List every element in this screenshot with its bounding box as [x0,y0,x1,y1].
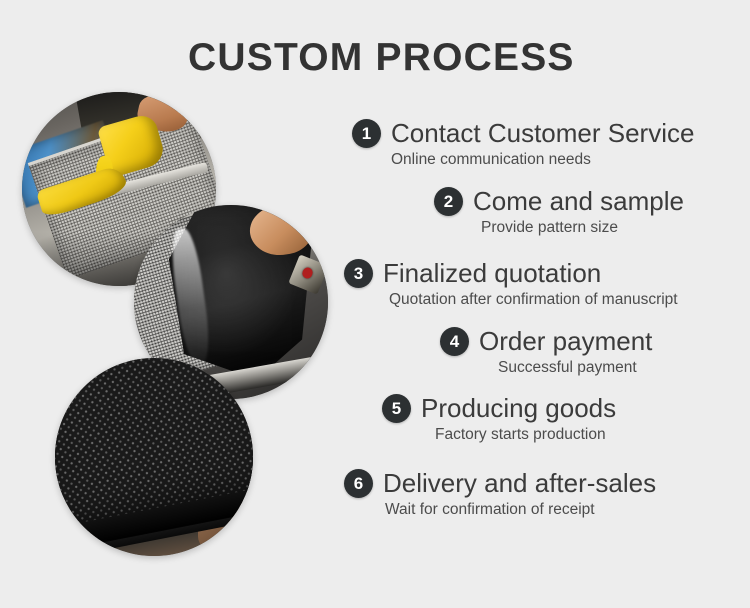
step-6-subtitle: Wait for confirmation of receipt [385,501,656,519]
step-1-title: Contact Customer Service [391,118,694,149]
step-3-head: 3 Finalized quotation [344,258,678,289]
custom-process-infographic: CUSTOM PROCESS [0,0,750,608]
step-6-number-badge: 6 [344,469,373,498]
step-6-head: 6 Delivery and after-sales [344,468,656,499]
step-5-subtitle: Factory starts production [435,426,616,444]
process-step-5: 5 Producing goods Factory starts product… [382,393,616,444]
step-2-head: 2 Come and sample [434,186,684,217]
step-4-subtitle: Successful payment [498,359,652,377]
step-6-title: Delivery and after-sales [383,468,656,499]
step-3-subtitle: Quotation after confirmation of manuscri… [389,291,678,309]
studded-mat-photo [55,358,253,556]
process-step-6: 6 Delivery and after-sales Wait for conf… [344,468,656,519]
step-3-number-badge: 3 [344,259,373,288]
step-3-title: Finalized quotation [383,258,601,289]
step-4-number-badge: 4 [440,327,469,356]
step-2-number-badge: 2 [434,187,463,216]
process-step-1: 1 Contact Customer Service Online commun… [352,118,694,169]
photo-collage [0,60,350,570]
step-1-subtitle: Online communication needs [391,151,694,169]
process-step-2: 2 Come and sample Provide pattern size [434,186,684,237]
step-1-number-badge: 1 [352,119,381,148]
process-step-4: 4 Order payment Successful payment [440,326,652,377]
process-step-3: 3 Finalized quotation Quotation after co… [344,258,678,309]
process-steps-list: 1 Contact Customer Service Online commun… [330,118,750,558]
step-4-head: 4 Order payment [440,326,652,357]
step-5-title: Producing goods [421,393,616,424]
step-2-title: Come and sample [473,186,684,217]
studded-mat-photo-art [55,358,253,556]
step-2-subtitle: Provide pattern size [481,219,684,237]
step-4-title: Order payment [479,326,652,357]
step-5-number-badge: 5 [382,394,411,423]
step-5-head: 5 Producing goods [382,393,616,424]
step-1-head: 1 Contact Customer Service [352,118,694,149]
